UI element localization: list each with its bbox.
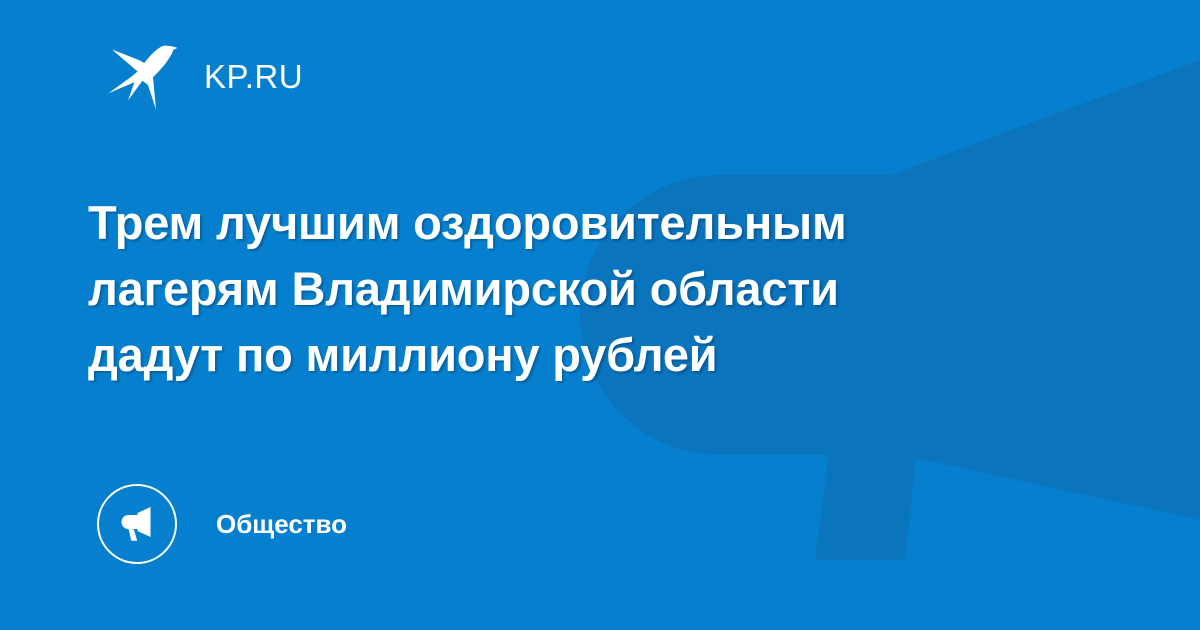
brand-logo[interactable]: KP.RU	[104, 34, 303, 118]
category-badge[interactable]: Общество	[97, 483, 347, 565]
swallow-bird-icon	[104, 37, 182, 115]
category-icon-circle	[97, 484, 177, 564]
headline-line-3: дадут по миллиону рублей	[88, 322, 1098, 388]
brand-name: KP.RU	[204, 60, 303, 93]
category-label: Общество	[216, 511, 347, 537]
megaphone-icon	[115, 502, 159, 546]
headline: Трем лучшим оздоровительным лагерям Влад…	[88, 190, 1098, 388]
headline-line-1: Трем лучшим оздоровительным	[88, 190, 1098, 256]
headline-line-2: лагерям Владимирской области	[88, 256, 1098, 322]
social-share-card: KP.RU Трем лучшим оздоровительным лагеря…	[0, 0, 1200, 630]
